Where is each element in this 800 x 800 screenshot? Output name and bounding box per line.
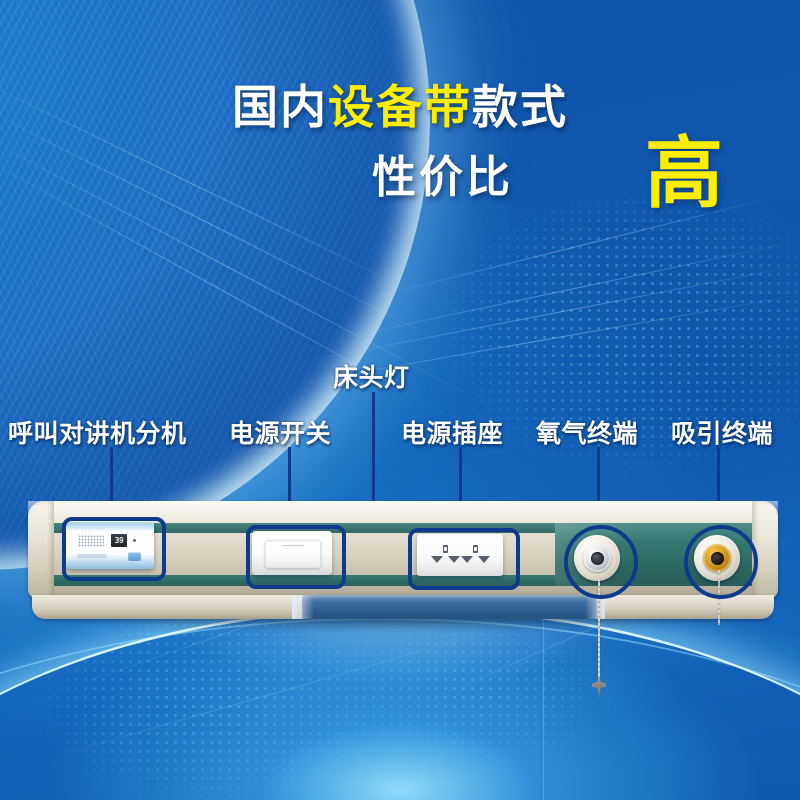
rail-tube-blue-section (302, 595, 597, 619)
callout-label-intercom: 呼叫对讲机分机 (8, 414, 187, 450)
highlight-box-intercom (62, 517, 166, 581)
headline-block: 国内设备带款式 性价比 高 (0, 84, 800, 130)
callout-label-bed-lamp: 床头灯 (333, 358, 410, 394)
callout-label-power-socket: 电源插座 (401, 414, 503, 450)
callout-label-power-switch: 电源开关 (229, 414, 331, 450)
headline-line1-highlight: 设备带 (328, 81, 472, 133)
highlight-circle-suction (684, 525, 758, 599)
callout-label-suction: 吸引终端 (671, 414, 773, 450)
rail-end-cap-left (28, 501, 54, 599)
headline-line1-part2: 款式 (472, 81, 568, 133)
highlight-box-power-switch (246, 525, 346, 589)
highlight-box-power-socket (408, 528, 520, 590)
headline-line-1: 国内设备带款式 (0, 84, 800, 130)
headline-line1-part1: 国内 (232, 81, 328, 133)
rail-lower-tube (32, 595, 774, 619)
headline-line-2: 性价比 (372, 156, 513, 200)
callout-label-oxygen: 氧气终端 (536, 414, 638, 450)
highlight-circle-oxygen (564, 525, 638, 599)
promo-banner: 国内设备带款式 性价比 高 呼叫对讲机分机 电源开关 床头灯 电源插座 氧气终端… (0, 0, 800, 800)
background-vertical-line (543, 620, 544, 800)
headline-emphasis-gao: 高 (645, 134, 723, 212)
